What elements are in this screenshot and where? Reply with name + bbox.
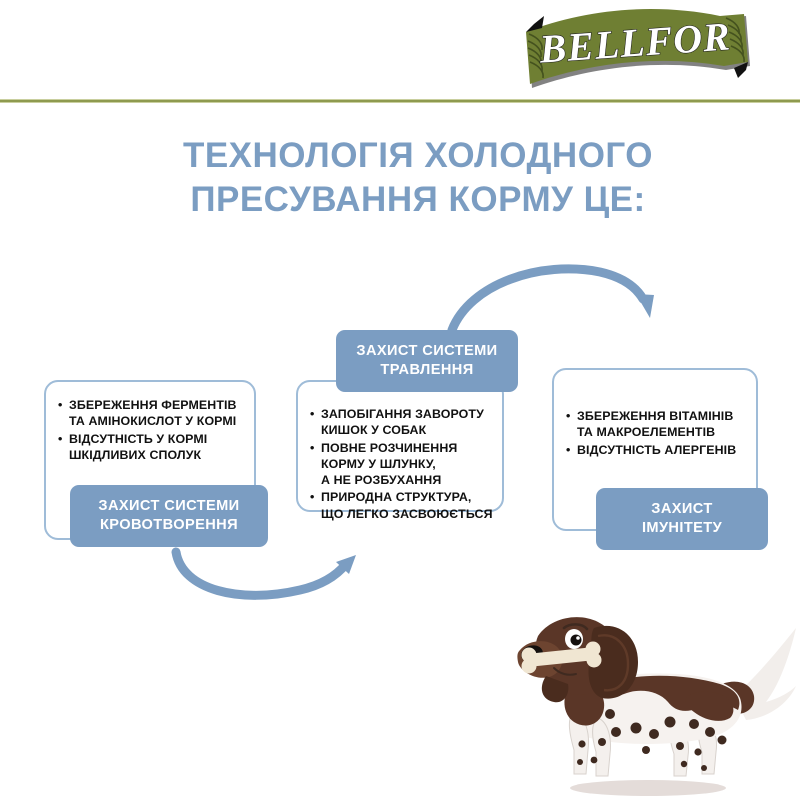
list-item: ПОВНЕ РОЗЧИНЕННЯ КОРМУ У ШЛУНКУ, А НЕ РО… bbox=[310, 440, 496, 489]
tag-blood-protection[interactable]: ЗАХИСТ СИСТЕМИ КРОВОТВОРЕННЯ bbox=[70, 485, 268, 547]
bullet-list-digestion: ЗАПОБІГАННЯ ЗАВОРОТУ КИШОК У СОБАК ПОВНЕ… bbox=[298, 406, 502, 523]
panel-digestion-protection: ЗАПОБІГАННЯ ЗАВОРОТУ КИШОК У СОБАК ПОВНЕ… bbox=[296, 380, 504, 512]
tag-immunity-protection[interactable]: ЗАХИСТ ІМУНІТЕТУ bbox=[596, 488, 768, 550]
list-item: ЗАПОБІГАННЯ ЗАВОРОТУ КИШОК У СОБАК bbox=[310, 406, 496, 439]
bullet-list-immunity: ЗБЕРЕЖЕННЯ ВІТАМІНІВ ТА МАКРОЕЛЕМЕНТІВ В… bbox=[554, 408, 756, 459]
list-item: ВІДСУТНІСТЬ У КОРМІ ШКІДЛИВИХ СПОЛУК bbox=[58, 431, 244, 464]
bullet-list-blood: ЗБЕРЕЖЕННЯ ФЕРМЕНТІВ ТА АМІНОКИСЛОТ У КО… bbox=[46, 397, 254, 464]
tag-digestion-protection[interactable]: ЗАХИСТ СИСТЕМИ ТРАВЛЕННЯ bbox=[336, 330, 518, 392]
arrow-top-icon bbox=[452, 269, 654, 330]
spaniel-dog-illustration bbox=[498, 592, 800, 800]
list-item: ПРИРОДНА СТРУКТУРА, ЩО ЛЕГКО ЗАСВОЮЄТЬСЯ bbox=[310, 489, 496, 522]
list-item: ВІДСУТНІСТЬ АЛЕРГЕНІВ bbox=[566, 442, 750, 458]
list-item: ЗБЕРЕЖЕННЯ ФЕРМЕНТІВ ТА АМІНОКИСЛОТ У КО… bbox=[58, 397, 244, 430]
infographic-page: BELLFOR ТЕХНОЛОГІЯ ХОЛОДНОГО ПРЕСУВАННЯ … bbox=[0, 0, 800, 800]
list-item: ЗБЕРЕЖЕННЯ ВІТАМІНІВ ТА МАКРОЕЛЕМЕНТІВ bbox=[566, 408, 750, 441]
arrow-bottom-icon bbox=[176, 552, 356, 595]
